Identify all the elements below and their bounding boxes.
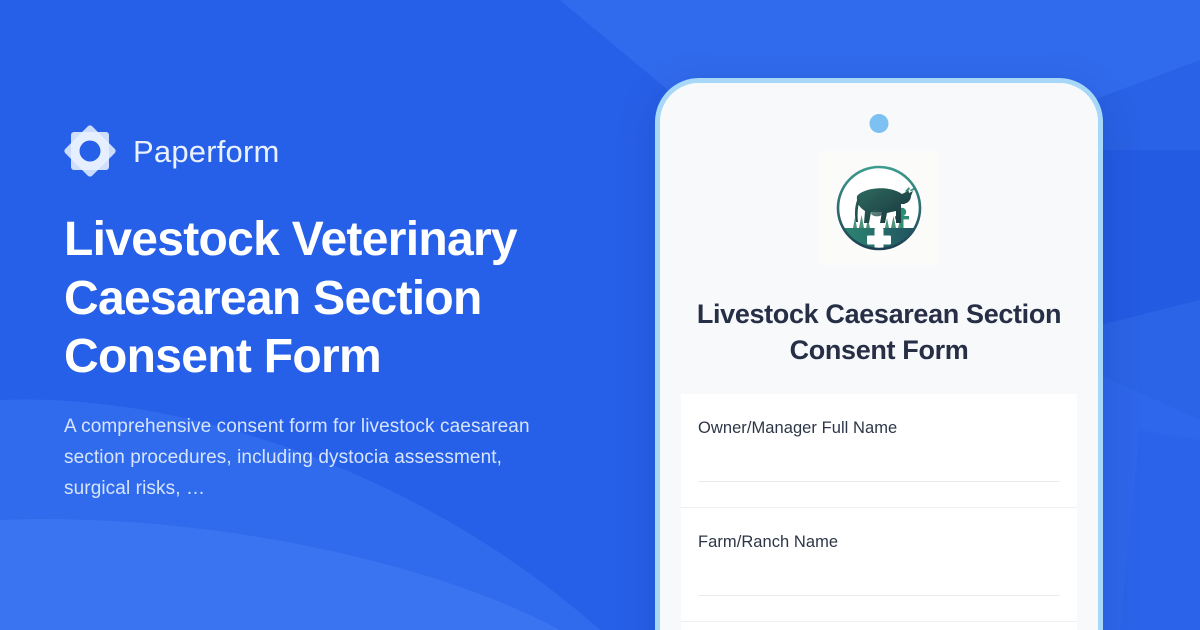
brand-wordmark: Paperform [133,136,280,167]
form-field[interactable]: Farm/Ranch Name [681,508,1077,622]
brand-lockup: Paperform [64,125,624,177]
page-title: Livestock Veterinary Caesarean Section C… [64,211,604,386]
form-field-label: Owner/Manager Full Name [698,418,1060,439]
form-logo [819,151,939,265]
paperform-star-logo-icon [64,125,116,177]
promo-banner: Paperform Livestock Veterinary Caesarean… [0,0,1200,630]
page-description: A comprehensive consent form for livesto… [64,412,564,504]
phone-mockup: Livestock Caesarean Section Consent Form… [655,78,1103,630]
form-field-input[interactable] [698,595,1060,596]
form-field-list: Owner/Manager Full Name Farm/Ranch Name [681,394,1077,630]
form-title: Livestock Caesarean Section Consent Form [660,297,1098,369]
camera-dot-icon [870,114,889,133]
livestock-veterinary-circle-logo-icon [827,156,931,260]
form-field[interactable] [681,622,1077,630]
hero-content: Paperform Livestock Veterinary Caesarean… [64,0,624,630]
form-field-label: Farm/Ranch Name [698,532,1060,553]
phone-screen: Livestock Caesarean Section Consent Form… [660,83,1098,630]
form-field[interactable]: Owner/Manager Full Name [681,394,1077,508]
form-field-input[interactable] [698,481,1060,482]
